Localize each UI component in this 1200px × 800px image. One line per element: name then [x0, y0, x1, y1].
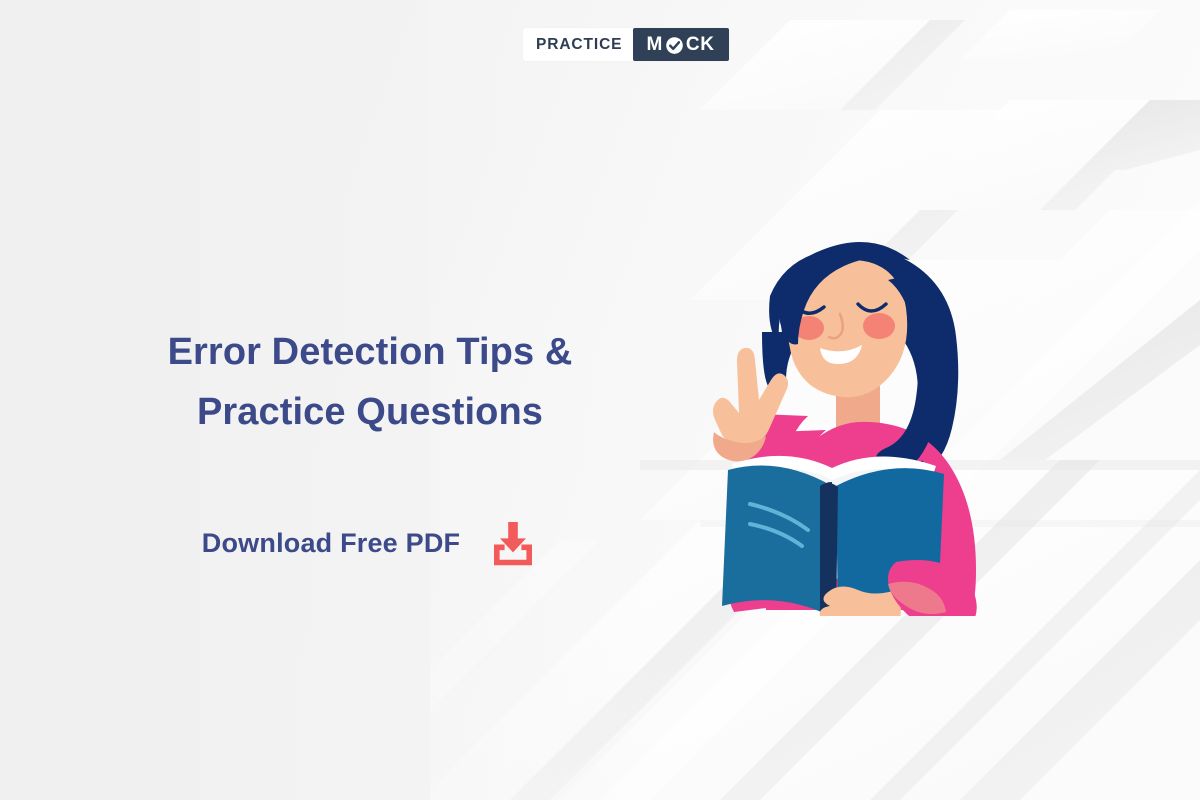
logo-practice-text: PRACTICE [523, 28, 633, 61]
logo-mock-block: M CK [633, 28, 728, 61]
title-line-2: Practice Questions [60, 382, 680, 442]
download-cta-label: Download Free PDF [202, 530, 460, 557]
page-title: Error Detection Tips & Practice Question… [60, 322, 680, 442]
woman-reading-book-illustration [670, 236, 1050, 616]
brand-logo[interactable]: PRACTICE M CK [523, 28, 729, 61]
logo-mock-letter-m: M [646, 35, 662, 54]
download-icon[interactable] [488, 520, 538, 567]
download-cta[interactable]: Download Free PDF [60, 520, 680, 567]
promo-banner: PRACTICE M CK Error Detection Tips & Pra… [0, 0, 1200, 800]
logo-mock-letters-ck: CK [686, 35, 715, 54]
title-line-1: Error Detection Tips & [60, 322, 680, 382]
check-in-circle-icon [665, 36, 684, 55]
